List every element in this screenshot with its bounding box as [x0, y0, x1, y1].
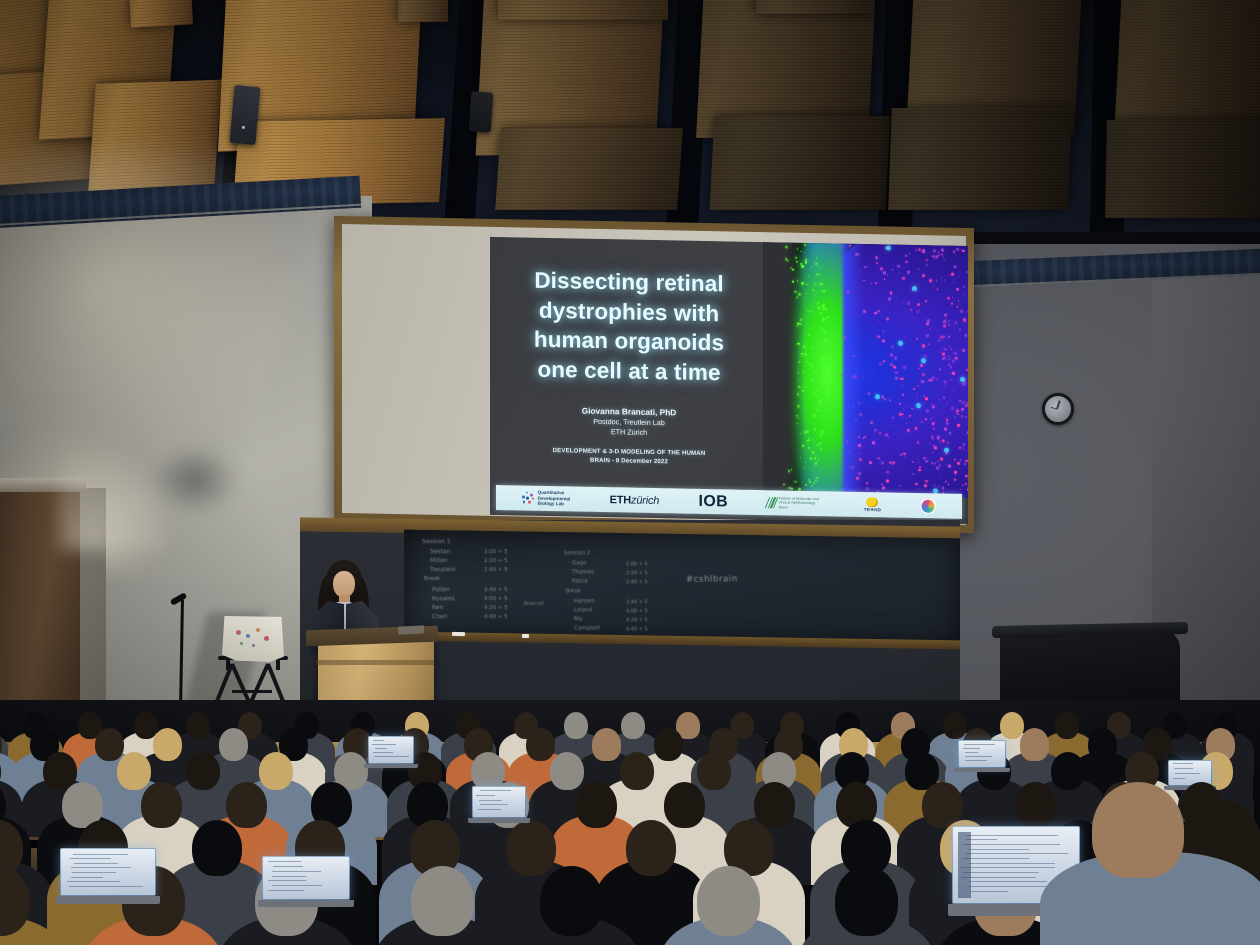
- chalkboard-text: Campbell: [574, 625, 600, 631]
- chalkboard-text: 2:40 + 5: [484, 567, 508, 573]
- chalkboard-text: Break: [424, 576, 440, 582]
- chalkboard-text: Pasca: [572, 578, 588, 584]
- chalk-piece: [452, 632, 465, 636]
- ceiling-projector: [230, 85, 261, 145]
- chalkboard-text: 4:00 + 5: [484, 596, 508, 602]
- institute-stripes-icon: [765, 497, 779, 508]
- chalkboard-text: Gage: [572, 560, 587, 566]
- slide-title-line: dystrophies with: [504, 295, 754, 329]
- wall-clock: [1042, 393, 1074, 425]
- brain-icon: [866, 497, 878, 507]
- logo-qdb-lab-text: Quantitative Developmental Biology Lab: [538, 490, 571, 507]
- chalkboard-text: Thomas: [572, 569, 594, 575]
- chalkboard-text: 3:40 + 5: [626, 599, 648, 605]
- audience-member-head: [219, 728, 248, 761]
- chalkboard-text: Chen: [432, 613, 448, 620]
- logo-institute-text: Institute of Molecular and Clinical Opht…: [779, 496, 825, 510]
- audience-member-head: [141, 782, 182, 828]
- chalkboard-text: 2:20 + 5: [484, 558, 508, 564]
- audience-member-head: [664, 782, 705, 828]
- qdb-dots-icon: [522, 491, 535, 504]
- audience-member-head: [153, 728, 182, 761]
- speaker-face: [333, 571, 355, 598]
- ceiling-panel: [398, 0, 448, 22]
- audience-member-head: [259, 752, 293, 790]
- logo-iob-institute: Institute of Molecular and Clinical Opht…: [767, 496, 824, 510]
- slide-conference-block: DEVELOPMENT & 3-D MODELING OF THE HUMAN …: [504, 445, 754, 468]
- ceiling-panel: [756, 0, 874, 14]
- slide-author-block: Giovanna Brancati, PhD Postdoc, Treutlei…: [504, 403, 754, 441]
- chalkboard-text: Ren: [432, 604, 444, 611]
- logo-qdb-lab: Quantitative Developmental Biology Lab: [522, 490, 571, 508]
- directors-chair: [214, 616, 292, 704]
- ceiling-panel: [495, 128, 683, 210]
- audience-laptop: [472, 786, 526, 818]
- audience-laptop: [368, 736, 414, 764]
- chalkboard-text: 2:20 + 5: [626, 570, 648, 576]
- chalkboard-hashtag: #cshlbrain: [686, 574, 738, 584]
- logo-eth-zurich: ETHzürich: [610, 494, 660, 507]
- slide-title-line: Dissecting retinal: [504, 265, 754, 299]
- audience-member-head: [564, 712, 588, 739]
- laptop-screen: [263, 857, 349, 899]
- ceiling-panel: [1105, 120, 1260, 218]
- audience-member-head: [943, 712, 967, 739]
- audience-member-head: [697, 866, 760, 936]
- audience-member-head: [550, 752, 584, 790]
- audience-laptop: [60, 848, 156, 896]
- lecture-hall-photo: Dissecting retinal dystrophies with huma…: [0, 0, 1260, 945]
- chalkboard-text: 2:40 + 5: [626, 579, 648, 585]
- foreground-attendee-head: [1092, 782, 1184, 878]
- laptop-screen: [959, 741, 1005, 767]
- logo-iob: IOB: [698, 492, 728, 511]
- podium-laptop: [398, 625, 424, 634]
- laptop-base: [56, 896, 160, 904]
- laptop-base: [468, 818, 530, 823]
- laptop-screen: [473, 787, 525, 817]
- chalkboard-text: 2:00 + 5: [484, 549, 508, 555]
- audience-member-head: [835, 866, 898, 936]
- ceiling-panel: [710, 116, 891, 210]
- audience-member-head: [526, 728, 555, 761]
- audience-member-head: [95, 728, 124, 761]
- slide-title-line: human organoids: [504, 324, 754, 358]
- audience-member-head: [506, 820, 556, 876]
- audience-member-head: [186, 712, 210, 739]
- micrograph-dark-background: [763, 242, 805, 495]
- logo-conference-badge: [920, 498, 936, 514]
- audience-member-head: [592, 728, 621, 761]
- chalkboard-text: Treutlein: [430, 566, 456, 573]
- audience-member-head: [620, 752, 654, 790]
- chalkboard-text: Ma: [574, 616, 582, 622]
- ceiling-speaker: [469, 91, 494, 132]
- ceiling-panel: [498, 0, 668, 20]
- chalkboard-text: Sestan: [430, 548, 451, 555]
- audience-member-head: [654, 728, 683, 761]
- audience-member-head: [192, 820, 242, 876]
- ceiling-panel: [888, 108, 1072, 210]
- laptop-base: [954, 768, 1010, 772]
- audience-member-head: [1015, 782, 1056, 828]
- chalkboard-text: Break: [566, 588, 581, 594]
- audience-member-head: [1020, 728, 1049, 761]
- chalkboard-text: Rosales: [432, 595, 455, 602]
- audience-member-head: [626, 820, 676, 876]
- column-uplight-spill: [60, 440, 180, 550]
- audience-member-head: [1088, 728, 1117, 761]
- chalkboard: Session 1Sestan2:00 + 5Millen2:20 + 5Tre…: [404, 530, 960, 647]
- chalkboard-text: Millen: [430, 557, 448, 564]
- audience-member-head: [226, 782, 267, 828]
- audience-laptop: [958, 740, 1006, 768]
- chalkboard-text: 4:00 + 5: [626, 608, 648, 614]
- audience-member-head: [1051, 752, 1085, 790]
- audience-member-head: [754, 782, 795, 828]
- audience-member-head: [186, 752, 220, 790]
- chalkboard-text: 2:00 + 5: [626, 561, 648, 567]
- projection-screen-frame: Dissecting retinal dystrophies with huma…: [334, 216, 974, 533]
- chalkboard-text: 4:40 + 5: [626, 626, 648, 632]
- chalk-piece: [522, 634, 529, 638]
- chalkboard-text: 4:20 + 5: [626, 617, 648, 623]
- projection-screen-surface: Dissecting retinal dystrophies with huma…: [342, 224, 966, 525]
- chalkboard-text: Brancati: [524, 602, 544, 607]
- podium-ledge: [316, 660, 434, 665]
- laptop-base: [258, 900, 354, 907]
- audience-member-head: [621, 712, 645, 739]
- chalkboard-text: Pollen: [432, 586, 450, 593]
- audience-member-head: [411, 866, 474, 936]
- logo-trend-text: TR☀ND: [864, 507, 881, 513]
- audience-member-head: [540, 866, 603, 936]
- chalkboard-text: Session 1: [422, 538, 451, 545]
- laptop-screen: [369, 737, 413, 763]
- chalkboard-text: Hansen: [574, 598, 595, 604]
- audience-member-head: [1055, 712, 1079, 739]
- audience-laptop: [262, 856, 350, 900]
- ceiling-panel: [129, 0, 193, 28]
- audience-member-head: [576, 782, 617, 828]
- chalkboard-text: 4:20 + 5: [484, 605, 508, 611]
- presentation-slide: Dissecting retinal dystrophies with huma…: [490, 237, 968, 524]
- audience-member-head: [1000, 712, 1024, 739]
- logo-trend: TR☀ND: [864, 497, 881, 513]
- laptop-base: [364, 764, 418, 768]
- chalkboard-text: Session 2: [564, 550, 590, 556]
- chalkboard-text: 3:40 + 5: [484, 587, 508, 593]
- chalkboard-text: 4:40 + 5: [484, 614, 508, 620]
- laptop-screen: [61, 849, 155, 895]
- audience-member-head: [697, 752, 731, 790]
- audience-member-head: [117, 752, 151, 790]
- chalkboard-text: Leland: [574, 607, 592, 613]
- chair-draped-cloth: [222, 616, 284, 662]
- slide-title: Dissecting retinal dystrophies with huma…: [504, 265, 754, 389]
- slide-title-line: one cell at a time: [504, 354, 754, 388]
- retinal-organoid-micrograph: [763, 242, 968, 498]
